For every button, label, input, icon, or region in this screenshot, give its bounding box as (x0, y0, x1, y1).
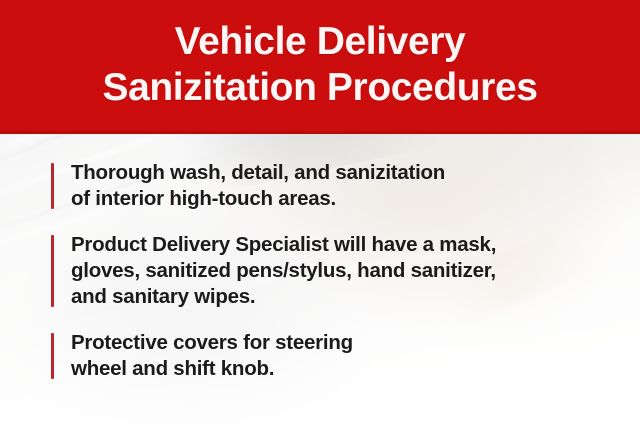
list-item: Protective covers for steering wheel and… (51, 330, 640, 382)
bullet-rule-icon (51, 235, 54, 307)
bullet-list: Thorough wash, detail, and sanizitation … (0, 134, 640, 426)
sanizitation-procedures-poster: Vehicle Delivery Sanizitation Procedures… (0, 0, 640, 426)
list-item-text: Protective covers for steering wheel and… (71, 330, 640, 382)
bullet-rule-icon (51, 163, 54, 209)
page-title-line-2: Sanizitation Procedures (102, 65, 537, 111)
bullet-rule-icon (51, 333, 54, 379)
list-item-text: Product Delivery Specialist will have a … (71, 232, 640, 310)
list-item-text: Thorough wash, detail, and sanizitation … (71, 160, 640, 212)
header-banner: Vehicle Delivery Sanizitation Procedures (0, 0, 640, 134)
page-title-line-1: Vehicle Delivery (175, 19, 466, 65)
list-item: Product Delivery Specialist will have a … (51, 232, 640, 310)
list-item: Thorough wash, detail, and sanizitation … (51, 160, 640, 212)
